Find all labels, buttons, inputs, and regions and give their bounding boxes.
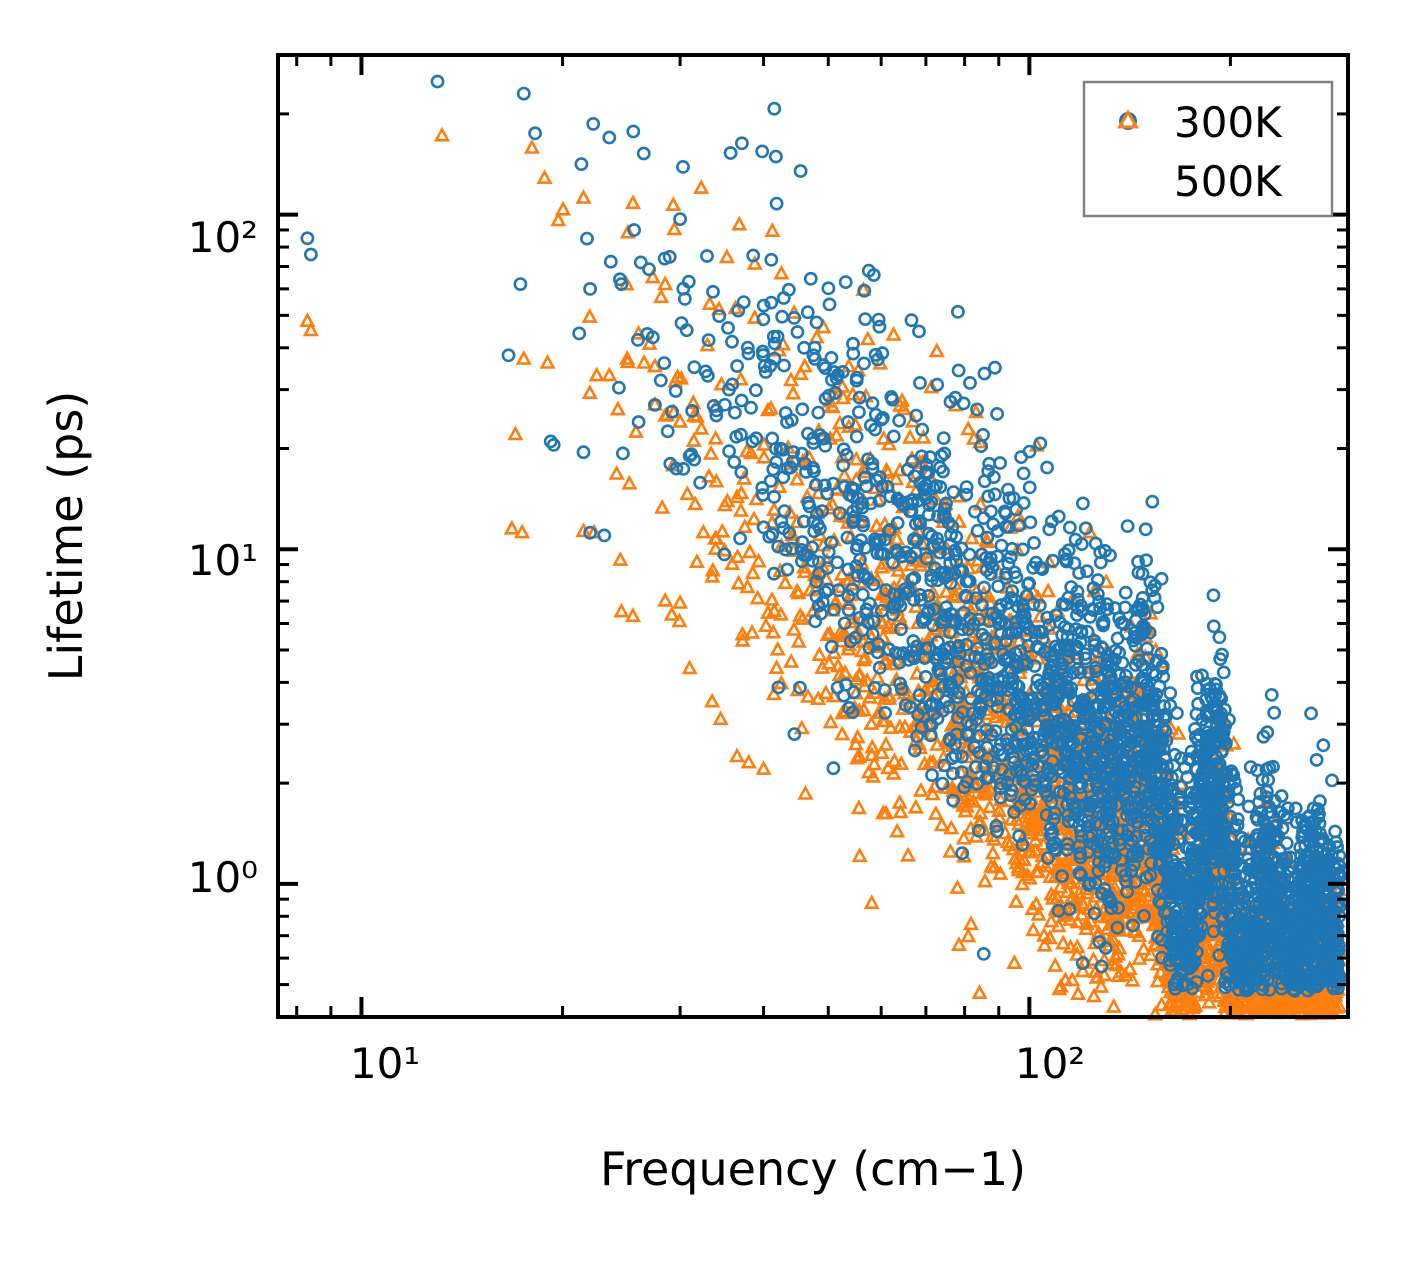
figure-canvas: 10¹ 10² 10² 10¹ 10⁰ Frequency (cm−1) Lif…	[0, 0, 1408, 1265]
x-tick-label-10e1: 10¹	[350, 1039, 420, 1088]
x-axis-label: Frequency (cm−1)	[600, 1142, 1026, 1196]
x-tick-label-10e2: 10²	[1015, 1039, 1085, 1088]
scatter-plot: 10¹ 10² 10² 10¹ 10⁰ Frequency (cm−1) Lif…	[0, 0, 1408, 1265]
y-tick-label-10e2: 10²	[188, 213, 258, 262]
y-tick-label-10e0: 10⁰	[188, 853, 258, 902]
legend: 300K 500K	[1084, 82, 1332, 216]
y-tick-label-10e1: 10¹	[188, 536, 258, 585]
legend-label-300k: 300K	[1174, 98, 1283, 147]
legend-label-500k: 500K	[1174, 157, 1283, 206]
y-axis-label: Lifetime (ps)	[39, 391, 93, 682]
